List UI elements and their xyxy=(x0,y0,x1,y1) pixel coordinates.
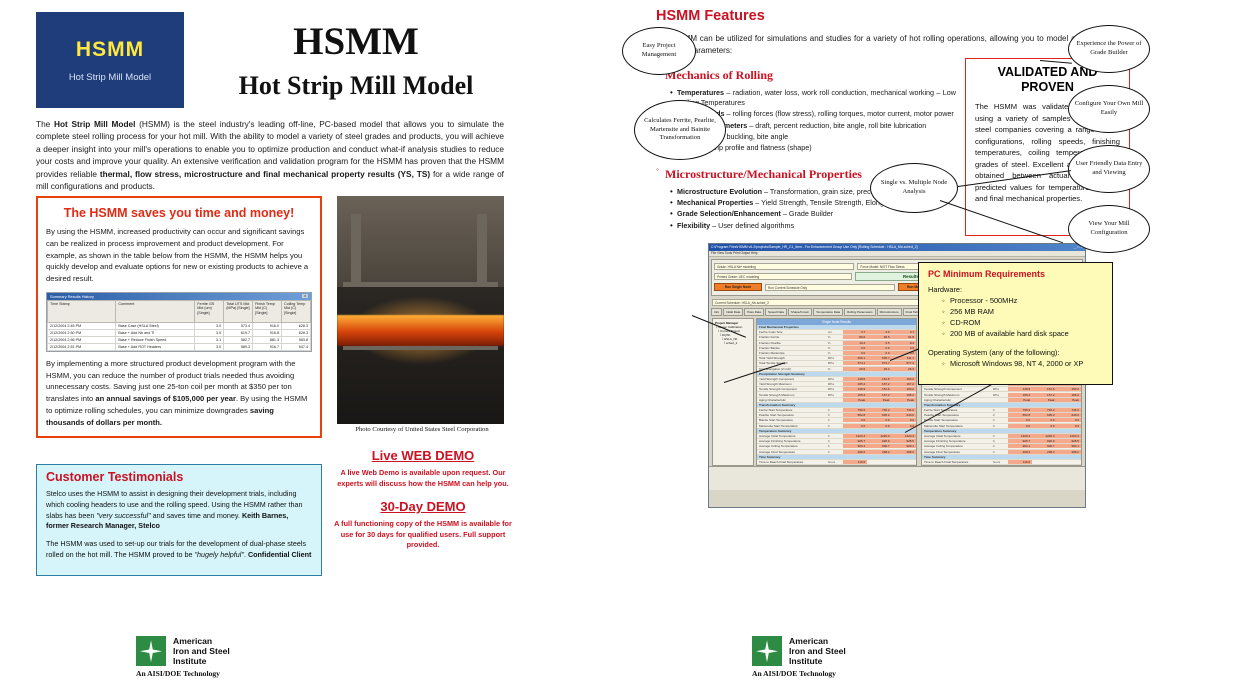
table-cell: 628.3 xyxy=(282,329,311,336)
photo-caption: Photo Courtesy of United States Steel Co… xyxy=(337,426,507,433)
table-cell: 619.7 xyxy=(224,329,253,336)
mill-configuration-strip xyxy=(709,466,1085,490)
table-cell: 3.0 xyxy=(195,322,224,329)
page-title: HSMM xyxy=(196,22,516,61)
close-icon[interactable]: x xyxy=(302,294,308,298)
intro-paragraph: The Hot Strip Mill Model (HSMM) is the s… xyxy=(36,118,504,193)
app-tab[interactable]: Rolling Parameters xyxy=(844,308,876,316)
summary-col-header: Ferrite GS Mid (um) [Single] xyxy=(195,300,224,322)
callout-single-vs-multiple-node: Single vs. Multiple Node Analysis xyxy=(870,163,958,213)
table-cell: 3.0 xyxy=(195,329,224,336)
table-cell: 2/12/2004 2:45 PM xyxy=(48,322,116,329)
app-tab[interactable]: Temperature Data xyxy=(813,308,843,316)
schedule-select[interactable]: Run Current Schedule Only xyxy=(765,284,895,291)
live-web-demo-heading[interactable]: Live WEB DEMO xyxy=(330,448,516,463)
callout-grade-builder: Experience the Power of Grade Builder xyxy=(1068,25,1150,73)
current-schedule-field: Current Schedule: HSLA_Nb-sched_2 xyxy=(712,299,925,306)
summary-window-titlebar: Summary Results History x xyxy=(47,293,311,300)
page-subtitle: Hot Strip Mill Model xyxy=(196,72,516,101)
app-tab[interactable]: Speed Data xyxy=(765,308,787,316)
summary-results-window: Summary Results History x Time Stamp Com… xyxy=(46,292,312,352)
savings-paragraph-2: By implementing a more structured produc… xyxy=(46,358,312,429)
logo-title: HSMM xyxy=(76,38,144,62)
section-heading: Microstructure/Mechanical Properties xyxy=(665,167,862,181)
aisi-logo-left: American Iron and Steel Institute An AIS… xyxy=(136,636,276,678)
savings-title: The HSMM saves you time and money! xyxy=(46,206,312,220)
pc-requirements-title: PC Minimum Requirements xyxy=(928,269,1103,279)
feature-item: Flexibility – User defined algorithms xyxy=(670,221,956,231)
left-column: HSMM Hot Strip Mill Model HSMM Hot Strip… xyxy=(0,0,525,698)
testimonial-quote-1: Stelco uses the HSMM to assist in design… xyxy=(46,489,312,532)
table-cell: Base + Add ROT Headers xyxy=(116,343,195,350)
app-tab[interactable]: Shape/Crown xyxy=(788,308,812,316)
table-cell: 573.4 xyxy=(224,322,253,329)
hardware-list: Processor - 500MHz256 MB RAMCD-ROM200 MB… xyxy=(942,295,1103,339)
savings-paragraph-1: By using the HSMM, increased productivit… xyxy=(46,226,312,285)
app-tab[interactable]: Info xyxy=(711,308,722,316)
callout-mill-configuration: View Your Mill Configuration xyxy=(1068,205,1150,253)
list-item: 256 MB RAM xyxy=(942,306,1103,317)
os-label: Operating System (any of the following): xyxy=(928,347,1103,358)
summary-col-header: Coiling Temp Mid (C) [Single] xyxy=(282,300,311,322)
thirty-day-demo-heading[interactable]: 30-Day DEMO xyxy=(330,499,516,514)
table-cell: Base + Add Nb and Ti xyxy=(116,329,195,336)
table-cell: 3.0 xyxy=(195,343,224,350)
thirty-day-demo-body: A full functioning copy of the HSMM is a… xyxy=(330,519,516,551)
app-tab[interactable]: Initial Data xyxy=(723,308,743,316)
section-bullet-icon: ◦ xyxy=(656,165,665,174)
live-web-demo-body: A live Web Demo is available upon reques… xyxy=(330,468,516,489)
app-menu-bar[interactable]: File View Tools Print Output Help xyxy=(709,251,1085,257)
table-cell: 2/12/2004 2:56 PM xyxy=(48,336,116,343)
os-list: Microsoft Windows 98, NT 4, 2000 or XP xyxy=(942,358,1103,369)
table-cell: 589.3 xyxy=(224,343,253,350)
table-cell: 582.7 xyxy=(224,336,253,343)
app-title-text: C:\Program Files\HSMM v6.2\projects\Samp… xyxy=(711,245,918,250)
hsmm-logo-block: HSMM Hot Strip Mill Model xyxy=(36,12,184,108)
testimonials-box: Customer Testimonials Stelco uses the HS… xyxy=(36,464,322,576)
aisi-tagline: An AISI/DOE Technology xyxy=(752,669,892,678)
printed-grade-field[interactable]: Printed Grade: UEC modeling xyxy=(714,273,852,280)
callout-configure-mill: Configure Your Own Mill Easily xyxy=(1068,85,1150,133)
right-column: HSMM Features The HSMM can be utilized f… xyxy=(640,0,1240,698)
aisi-star-icon xyxy=(136,636,166,666)
hardware-label: Hardware: xyxy=(928,284,1103,295)
table-cell: 2/12/2004 2:51 PM xyxy=(48,343,116,350)
summary-results-table: Time Stamp Comment Ferrite GS Mid (um) [… xyxy=(47,300,311,351)
grid-row[interactable]: Time to Reach Final Temperaturehours116.… xyxy=(922,460,1081,465)
testimonials-title: Customer Testimonials xyxy=(46,470,312,484)
callout-calculates-transformation: Calculates Ferrite, Pearlite, Martensite… xyxy=(634,100,726,160)
grid-row[interactable]: Time to Reach Final Temperaturehours116.… xyxy=(757,460,916,465)
aisi-org-name: American Iron and Steel Institute xyxy=(173,636,230,666)
callout-easy-project-management: Easy Project Management xyxy=(622,27,696,75)
table-row[interactable]: 2/12/2004 2:56 PMBase + Reduce Finish Sp… xyxy=(48,336,311,343)
table-cell: Base + Reduce Finish Speed xyxy=(116,336,195,343)
savings-box: The HSMM saves you time and money! By us… xyxy=(36,196,322,438)
demo-section: Live WEB DEMO A live Web Demo is availab… xyxy=(330,442,516,551)
list-item: CD-ROM xyxy=(942,317,1103,328)
summary-col-header: Comment xyxy=(116,300,195,322)
run-single-node-button[interactable]: Run Single Node xyxy=(714,283,762,291)
summary-col-header: Total UTS Mid (MPa) [Single] xyxy=(224,300,253,322)
table-cell: 2/12/2004 2:50 PM xyxy=(48,329,116,336)
app-tab[interactable]: Pass Data xyxy=(744,308,764,316)
single-node-results-grid: Single Node Results Final Mechanical Pro… xyxy=(756,318,917,466)
table-row[interactable]: 2/12/2004 2:51 PMBase + Add ROT Headers3… xyxy=(48,343,311,350)
poster-page: HSMM Hot Strip Mill Model HSMM Hot Strip… xyxy=(0,0,1240,698)
pc-requirements-box: PC Minimum Requirements Hardware: Proces… xyxy=(918,262,1113,385)
list-item: 200 MB of available hard disk space xyxy=(942,328,1103,339)
testimonial-quote-2: The HSMM was used to set-up our trials f… xyxy=(46,539,312,561)
summary-table-header-row: Time Stamp Comment Ferrite GS Mid (um) [… xyxy=(48,300,311,322)
project-manager-tree[interactable]: Project Manager └ Master Calibration└ Cu… xyxy=(712,318,754,466)
aisi-org-name: American Iron and Steel Institute xyxy=(789,636,846,666)
table-cell: 916.8 xyxy=(253,329,282,336)
aisi-tagline: An AISI/DOE Technology xyxy=(136,669,276,678)
summary-col-header: Time Stamp xyxy=(48,300,116,322)
app-title-bar: C:\Program Files\HSMM v6.2\projects\Samp… xyxy=(709,244,1085,251)
summary-table-body: 2/12/2004 2:45 PMBase Case (HSLA Steel)3… xyxy=(48,322,311,350)
table-cell: 916.0 xyxy=(253,322,282,329)
table-cell: 583.8 xyxy=(282,336,311,343)
table-cell: 628.3 xyxy=(282,322,311,329)
feature-item: Temperatures – radiation, water loss, wo… xyxy=(670,88,956,108)
summary-window-title: Summary Results History xyxy=(50,294,94,299)
table-cell: Base Case (HSLA Steel) xyxy=(116,322,195,329)
table-cell: 916.7 xyxy=(253,343,282,350)
hot-mill-photo xyxy=(337,196,504,424)
features-intro: The HSMM can be utilized for simulations… xyxy=(656,33,1128,57)
aisi-star-icon xyxy=(752,636,782,666)
list-item: Microsoft Windows 98, NT 4, 2000 or XP xyxy=(942,358,1103,369)
app-tab[interactable]: Microstructure xyxy=(877,308,902,316)
aisi-logo-right: American Iron and Steel Institute An AIS… xyxy=(752,636,892,678)
list-item: Processor - 500MHz xyxy=(942,295,1103,306)
table-cell: 881.3 xyxy=(253,336,282,343)
table-row[interactable]: 2/12/2004 2:50 PMBase + Add Nb and Ti3.0… xyxy=(48,329,311,336)
table-row[interactable]: 2/12/2004 2:45 PMBase Case (HSLA Steel)3… xyxy=(48,322,311,329)
summary-col-header: Finish Temp Mid (C) [Single] xyxy=(253,300,282,322)
logo-subtitle: Hot Strip Mill Model xyxy=(69,72,151,83)
grade-field[interactable]: Grade: HSLA Nb* modeling xyxy=(714,263,854,270)
table-cell: 3.1 xyxy=(195,336,224,343)
table-cell: 547.4 xyxy=(282,343,311,350)
features-title: HSMM Features xyxy=(656,8,765,24)
callout-data-entry: User Friendly Data Entry and Viewing xyxy=(1068,145,1150,193)
tree-item[interactable]: └ sched_2 xyxy=(715,341,751,345)
